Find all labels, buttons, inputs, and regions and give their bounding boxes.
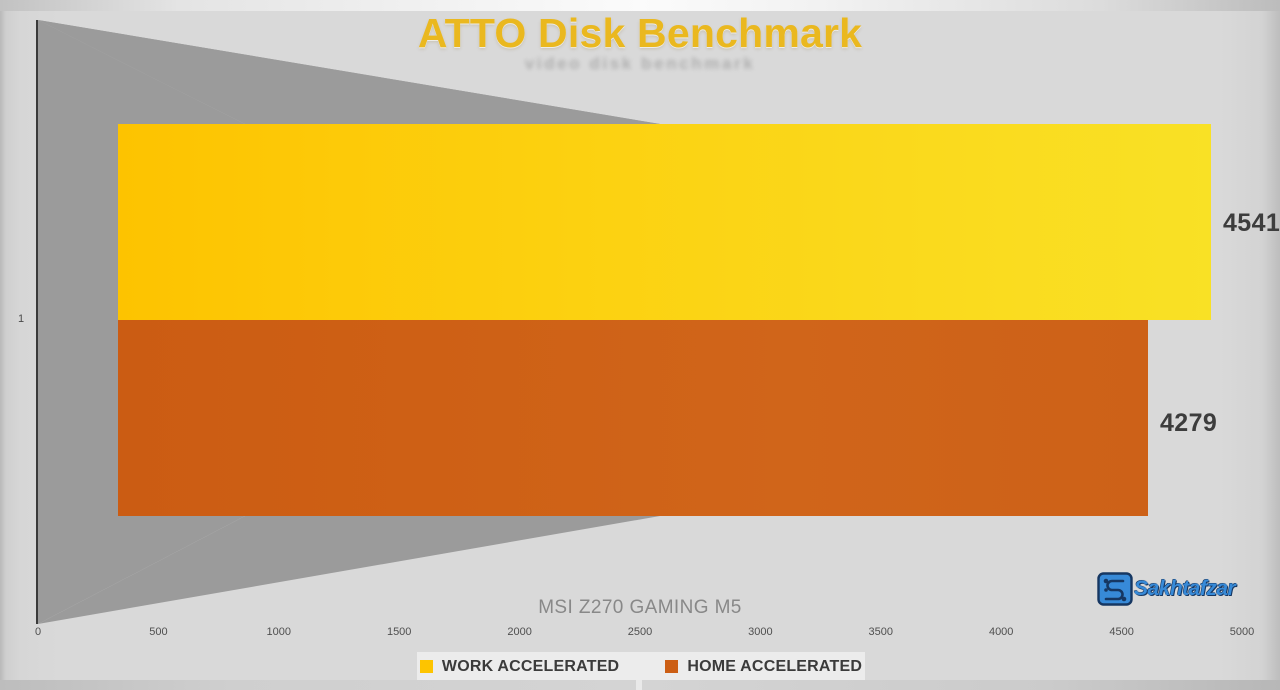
legend-label-work: WORK ACCELERATED <box>442 658 619 676</box>
watermark-sakhtafzar: Sakhtafzar <box>1097 572 1235 606</box>
bar-value-home: 4279 <box>1160 409 1217 438</box>
legend-item-work[interactable]: WORK ACCELERATED <box>420 658 619 676</box>
chart-title: ATTO Disk Benchmark <box>0 10 1280 57</box>
legend-label-home: HOME ACCELERATED <box>687 658 862 676</box>
bottom-notch <box>636 680 642 690</box>
x-tick-4500: 4500 <box>1109 626 1133 638</box>
chart-legend: WORK ACCELERATED HOME ACCELERATED <box>417 652 865 681</box>
category-label: MSI Z270 GAMING M5 <box>0 597 1280 619</box>
x-tick-2000: 2000 <box>507 626 531 638</box>
chart-subtitle: video disk benchmark <box>0 54 1280 74</box>
x-tick-0: 0 <box>35 626 41 638</box>
x-tick-5000: 5000 <box>1230 626 1254 638</box>
chart-canvas: 1 ATTO Disk Benchmark video disk benchma… <box>0 0 1280 690</box>
x-axis-ticks: 0500100015002000250030003500400045005000 <box>0 626 1280 642</box>
x-tick-3000: 3000 <box>748 626 772 638</box>
bar-home-accelerated[interactable] <box>118 320 1148 516</box>
legend-swatch-home <box>665 660 678 673</box>
y-axis-line <box>36 20 38 624</box>
legend-swatch-work <box>420 660 433 673</box>
x-tick-1000: 1000 <box>267 626 291 638</box>
y-axis-tick-1: 1 <box>18 313 24 325</box>
x-tick-2500: 2500 <box>628 626 652 638</box>
bar-value-work: 4541 <box>1223 209 1280 238</box>
circuit-s-logo-icon <box>1097 572 1133 606</box>
x-tick-4000: 4000 <box>989 626 1013 638</box>
legend-item-home[interactable]: HOME ACCELERATED <box>665 658 862 676</box>
x-tick-500: 500 <box>149 626 167 638</box>
x-tick-1500: 1500 <box>387 626 411 638</box>
watermark-text: Sakhtafzar <box>1134 577 1235 601</box>
bar-work-accelerated[interactable] <box>118 124 1211 320</box>
x-tick-3500: 3500 <box>869 626 893 638</box>
